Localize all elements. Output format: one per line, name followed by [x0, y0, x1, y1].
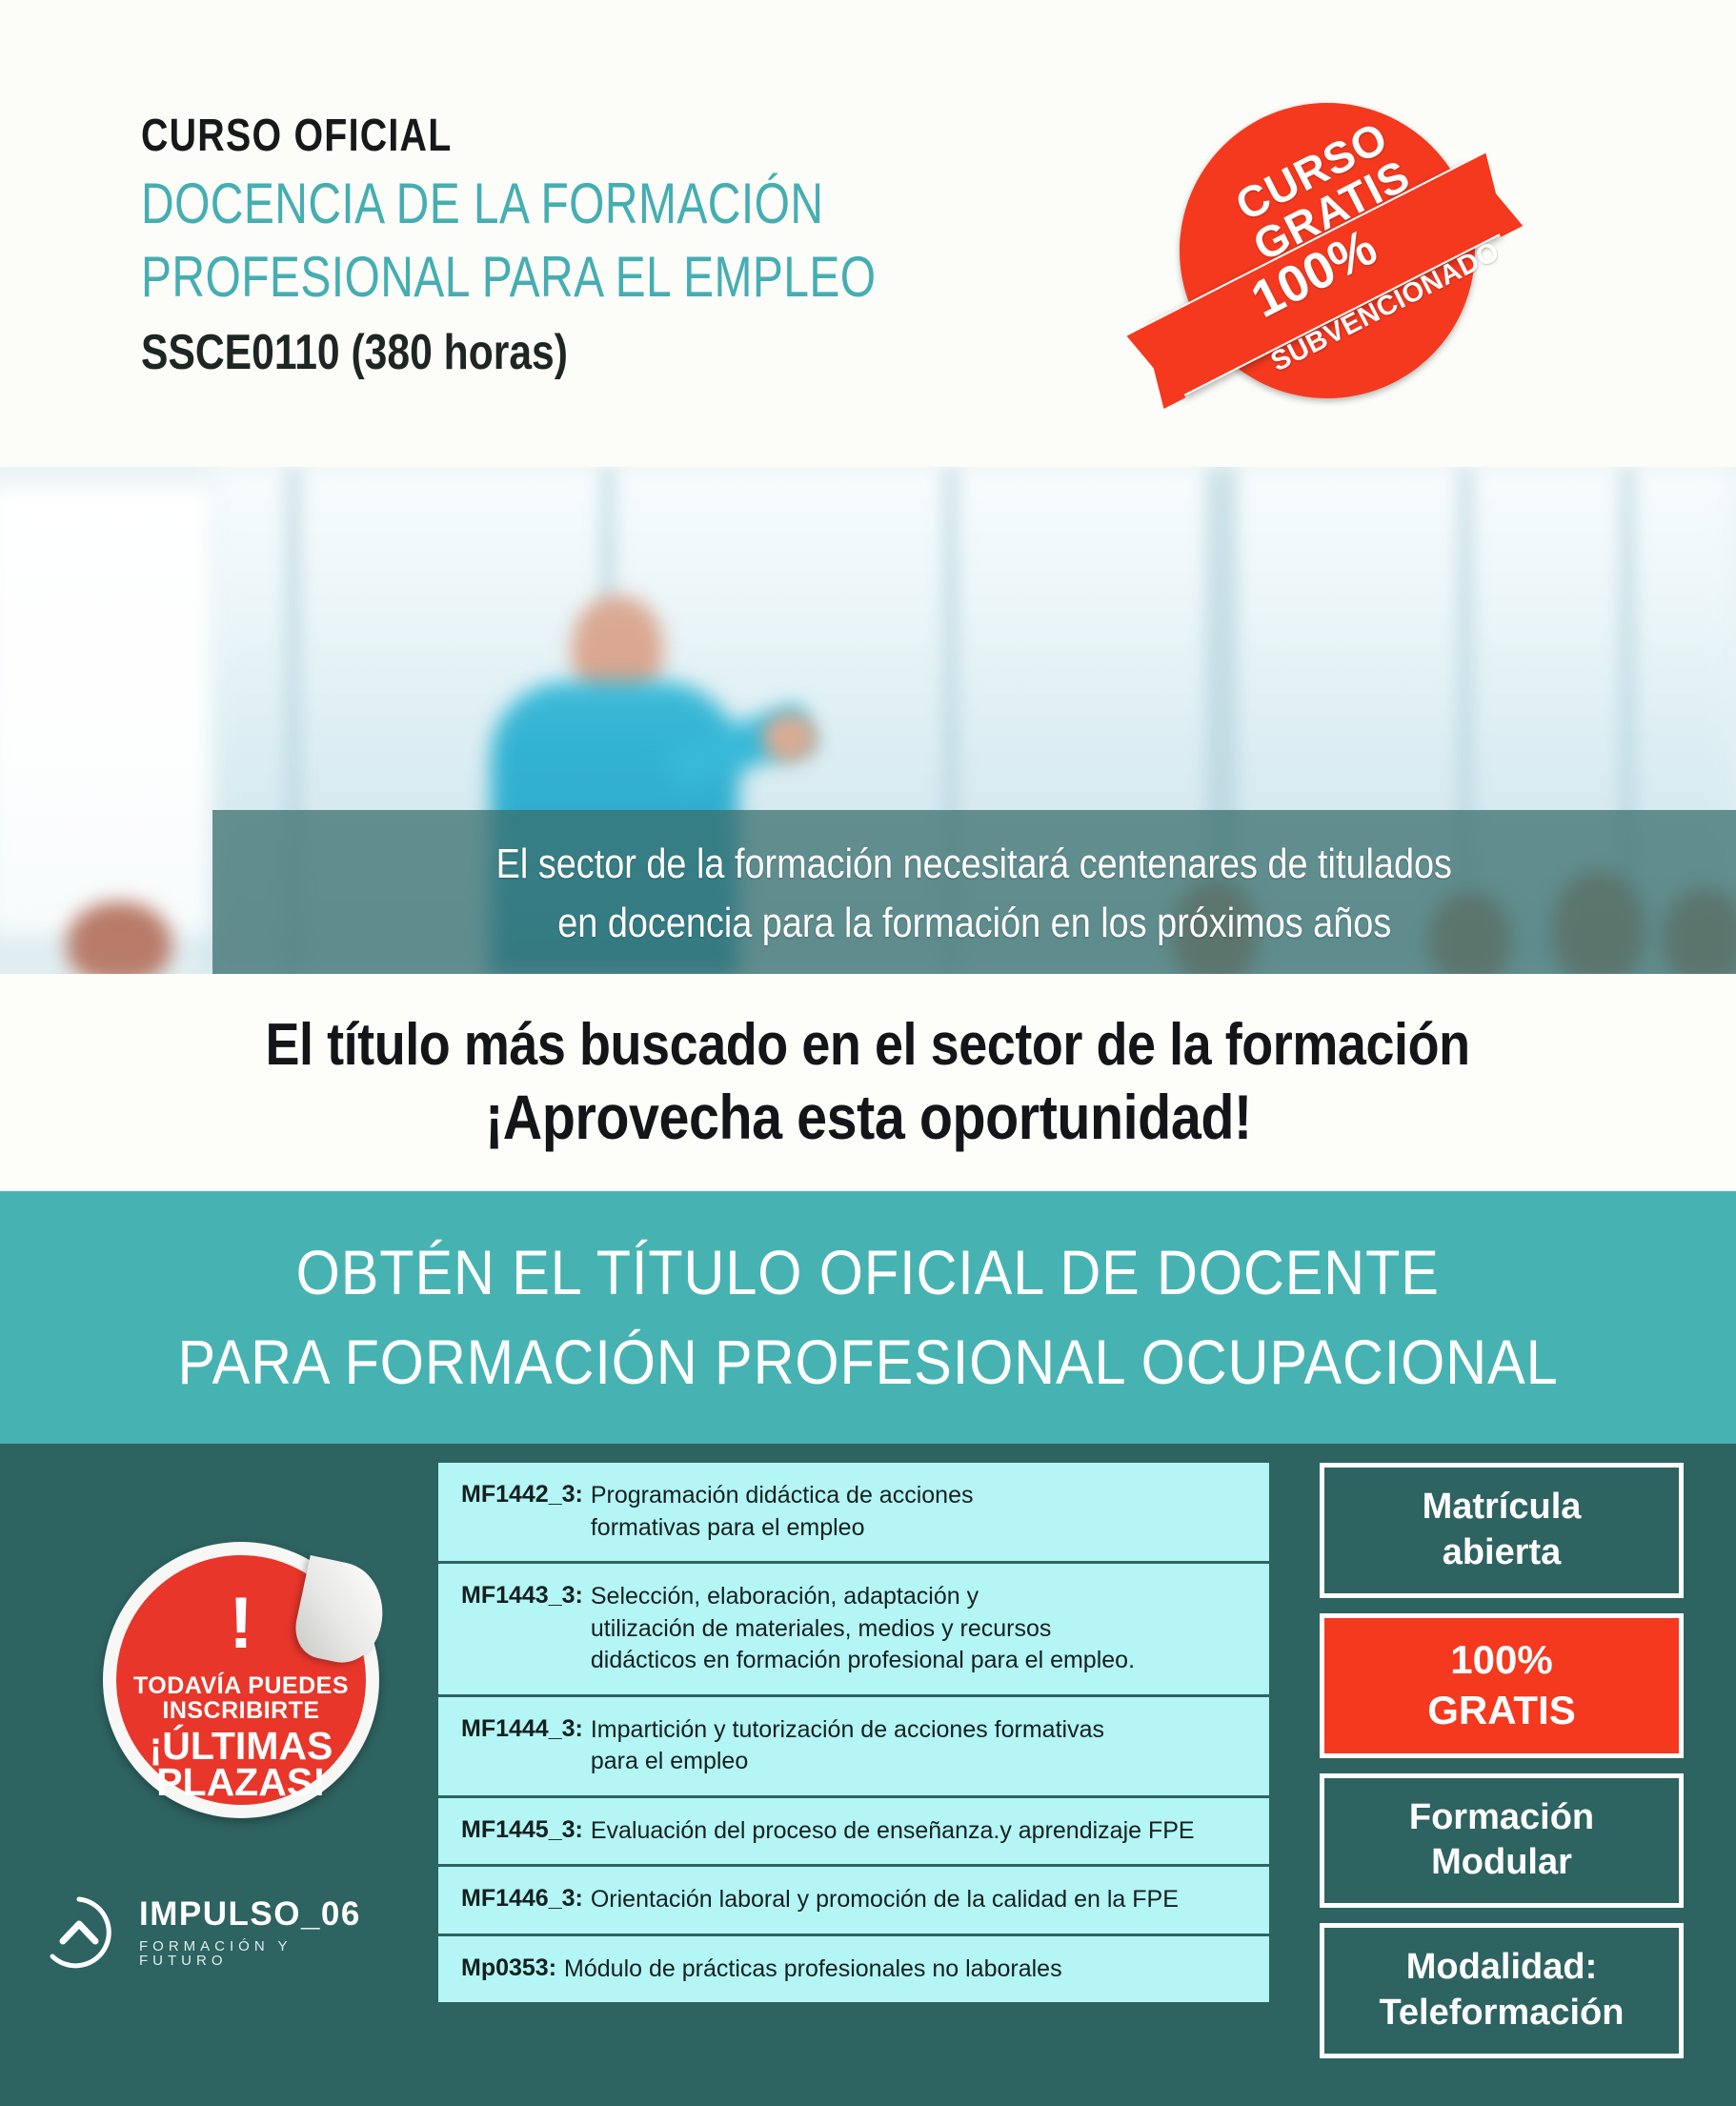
headline-line-1: El título más buscado en el sector de la… — [266, 1012, 1470, 1078]
module-row: MF1442_3:Programación didáctica de accio… — [438, 1463, 1269, 1564]
module-code: Mp0353: — [461, 1954, 556, 1982]
quote-banner: El sector de la formación necesitará cen… — [212, 810, 1736, 974]
info-boxes: Matrículaabierta100%GRATISFormaciónModul… — [1320, 1463, 1684, 2058]
module-description: Selección, elaboración, adaptación yutil… — [591, 1581, 1135, 1677]
sticker-small-line-1: TODAVÍA PUEDES — [116, 1673, 366, 1699]
info-box: FormaciónModular — [1320, 1773, 1684, 1909]
impulso-logo: IMPULSO_06 FORMACIÓN Y FUTURO — [40, 1879, 383, 1986]
module-row: Mp0353:Módulo de prácticas profesionales… — [438, 1936, 1269, 2003]
quote-line-2: en docencia para la formación en los pró… — [557, 894, 1391, 953]
info-box-line: abierta — [1332, 1530, 1671, 1576]
module-row: MF1443_3:Selección, elaboración, adaptac… — [438, 1564, 1269, 1697]
info-box-line: Modalidad: — [1332, 1945, 1671, 1991]
info-box: Matrículaabierta — [1320, 1463, 1684, 1598]
info-box-line: GRATIS — [1332, 1686, 1671, 1736]
headline-line-2: ¡Aprovecha esta oportunidad! — [485, 1083, 1252, 1153]
header-eyebrow: CURSO OFICIAL — [141, 112, 895, 160]
module-description: Evaluación del proceso de enseñanza.y ap… — [591, 1815, 1195, 1848]
info-box-line: 100% — [1332, 1635, 1671, 1686]
logo-name: IMPULSO_06 — [139, 1897, 383, 1931]
module-row-inner: MF1443_3:Selección, elaboración, adaptac… — [461, 1581, 1248, 1677]
header-title-line2: PROFESIONAL PARA EL EMPLEO — [141, 247, 877, 309]
module-row: MF1446_3:Orientación laboral y promoción… — [438, 1867, 1269, 1936]
header-title-line1: DOCENCIA DE LA FORMACIÓN — [141, 173, 877, 235]
curso-gratis-stamp: CURSO GRATIS 100% SUBVENCIONADO — [1153, 93, 1482, 408]
module-row-inner: Mp0353:Módulo de prácticas profesionales… — [461, 1954, 1248, 1986]
info-box-line: Modular — [1332, 1840, 1671, 1886]
module-code: MF1446_3: — [461, 1884, 583, 1913]
band-line-2: PARA FORMACIÓN PROFESIONAL OCUPACIONAL — [177, 1326, 1558, 1400]
info-box-gratis: 100%GRATIS — [1320, 1613, 1684, 1758]
sticker-big-line-2: PLAZAS! — [116, 1763, 366, 1803]
quote-line-1: El sector de la formación necesitará cen… — [496, 835, 1452, 894]
chevron-circle-icon — [40, 1893, 118, 1972]
poster-header: CURSO OFICIAL DOCENCIA DE LA FORMACIÓN P… — [0, 0, 1736, 467]
module-description: Módulo de prácticas profesionales no lab… — [564, 1954, 1062, 1986]
module-description: Impartición y tutorización de acciones f… — [591, 1714, 1104, 1778]
module-code: MF1444_3: — [461, 1714, 583, 1743]
module-code: MF1442_3: — [461, 1480, 583, 1509]
module-row-inner: MF1444_3:Impartición y tutorización de a… — [461, 1714, 1248, 1778]
header-course-code: SSCE0110 (380 horas) — [141, 326, 895, 380]
main-headline: El título más buscado en el sector de la… — [0, 974, 1736, 1191]
module-code: MF1443_3: — [461, 1581, 583, 1610]
logo-text-block: IMPULSO_06 FORMACIÓN Y FUTURO — [139, 1897, 383, 1968]
ultimas-plazas-sticker: ! TODAVÍA PUEDES INSCRIBIRTE ¡ÚLTIMAS PL… — [103, 1542, 379, 1818]
modules-list: MF1442_3:Programación didáctica de accio… — [438, 1463, 1269, 2002]
module-row: MF1445_3:Evaluación del proceso de enseñ… — [438, 1798, 1269, 1868]
header-text-block: CURSO OFICIAL DOCENCIA DE LA FORMACIÓN P… — [141, 112, 1060, 380]
info-box-line: Matrícula — [1332, 1485, 1671, 1530]
module-row-inner: MF1442_3:Programación didáctica de accio… — [461, 1480, 1248, 1544]
info-box: Modalidad:Teleformación — [1320, 1923, 1684, 2058]
info-box-line: Formación — [1332, 1795, 1671, 1841]
module-row: MF1444_3:Impartición y tutorización de a… — [438, 1697, 1269, 1798]
module-description: Programación didáctica de accionesformat… — [591, 1480, 974, 1544]
module-row-inner: MF1446_3:Orientación laboral y promoción… — [461, 1884, 1248, 1916]
info-box-line: Teleformación — [1332, 1991, 1671, 2036]
teal-callout-band: OBTÉN EL TÍTULO OFICIAL DE DOCENTE PARA … — [0, 1191, 1736, 1444]
logo-tagline: FORMACIÓN Y FUTURO — [139, 1939, 383, 1968]
module-row-inner: MF1445_3:Evaluación del proceso de enseñ… — [461, 1815, 1248, 1848]
module-code: MF1445_3: — [461, 1815, 583, 1844]
sticker-small-line-2: INSCRIBIRTE — [116, 1698, 366, 1724]
band-line-1: OBTÉN EL TÍTULO OFICIAL DE DOCENTE — [296, 1236, 1440, 1310]
module-description: Orientación laboral y promoción de la ca… — [591, 1884, 1179, 1916]
course-poster: CURSO OFICIAL DOCENCIA DE LA FORMACIÓN P… — [0, 0, 1736, 2106]
